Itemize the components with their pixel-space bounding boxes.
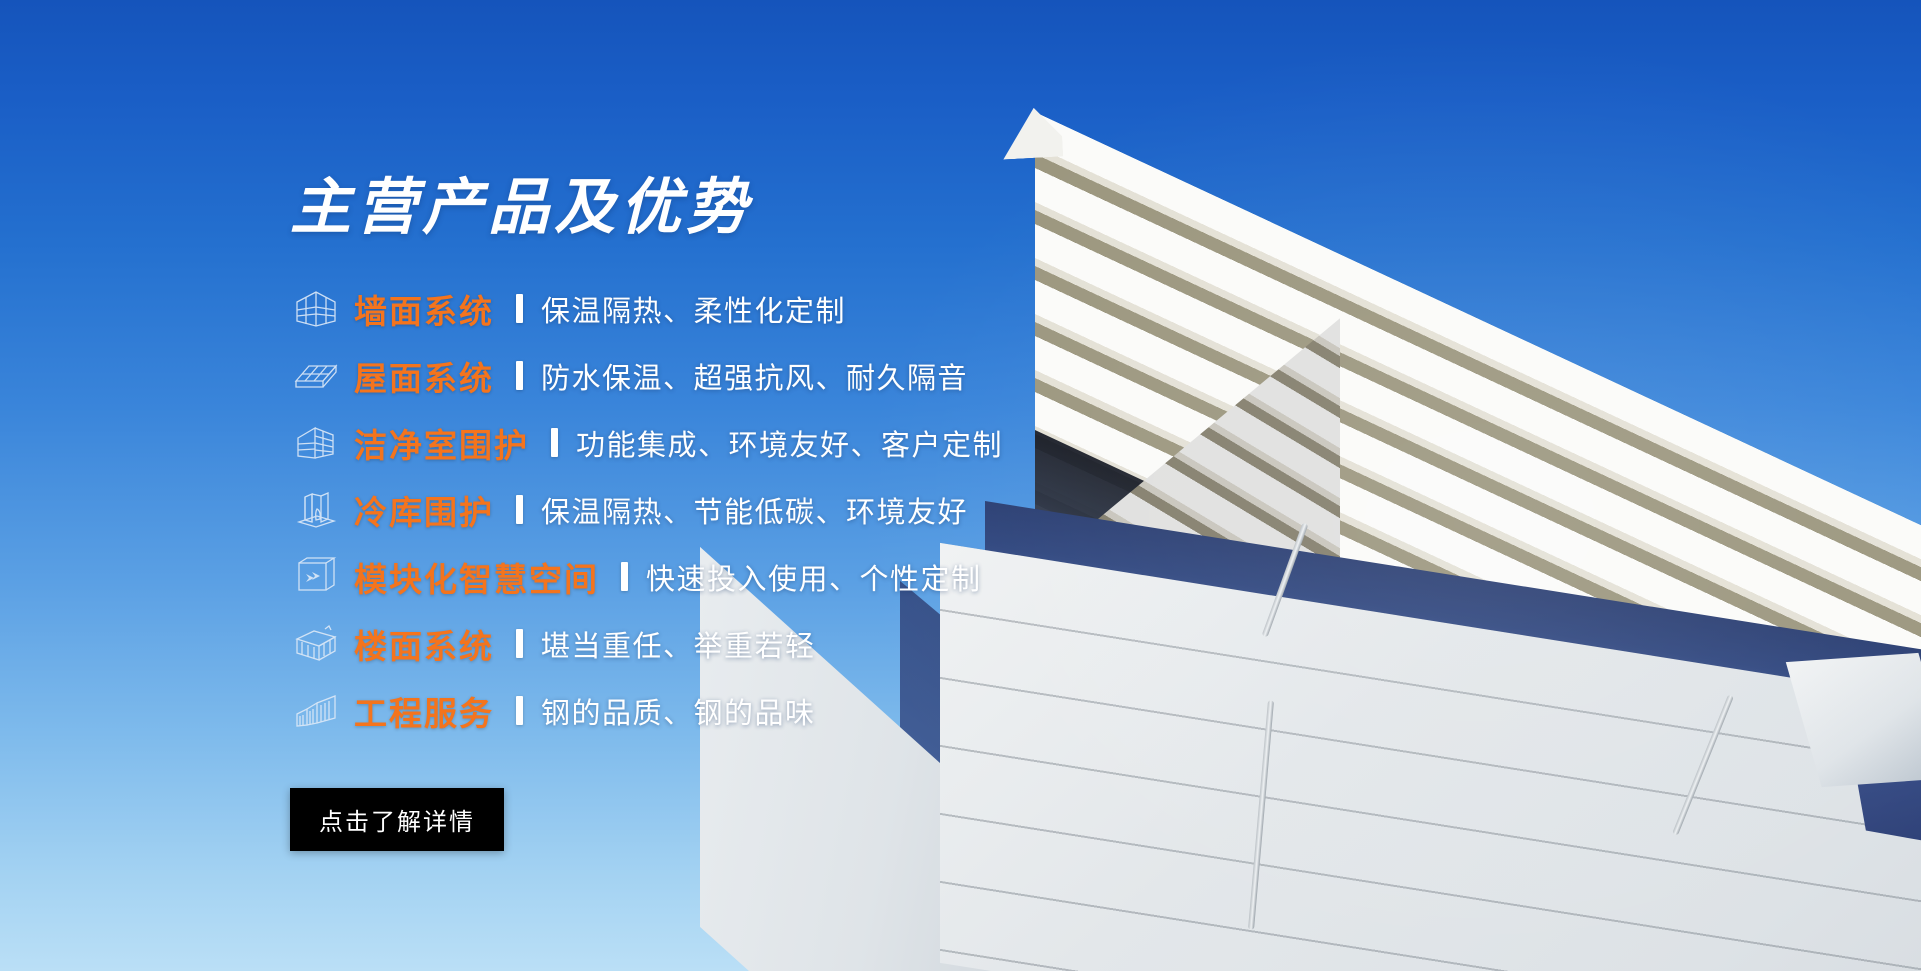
product-title: 冷库围护 [354,486,494,534]
title-desc-separator [516,696,523,725]
title-desc-separator [516,629,523,658]
floor-deck-icon [290,620,342,668]
product-row-modular-smart-space[interactable]: 模块化智慧空间 快速投入使用、个性定制 [290,543,1440,610]
product-desc: 保温隔热、柔性化定制 [541,288,846,330]
tower-apex-cap [1001,106,1064,159]
product-desc: 堪当重任、举重若轻 [541,623,816,665]
title-desc-separator [516,361,523,390]
product-title: 模块化智慧空间 [354,553,599,601]
product-title: 楼面系统 [354,620,494,668]
product-title: 屋面系统 [354,352,494,400]
modular-cube-icon [290,553,342,601]
product-desc: 钢的品质、钢的品味 [541,690,816,732]
product-desc: 防水保温、超强抗风、耐久隔音 [541,355,968,397]
learn-more-button[interactable]: 点击了解详情 [290,788,504,851]
product-desc: 功能集成、环境友好、客户定制 [576,422,1003,464]
product-row-engineering-service[interactable]: 工程服务 钢的品质、钢的品味 [290,677,1440,744]
roof-panel-icon [290,352,342,400]
cold-storage-icon [290,486,342,534]
product-row-roof-system[interactable]: 屋面系统 防水保温、超强抗风、耐久隔音 [290,342,1440,409]
factory-service-icon [290,687,342,735]
banner-content: 主营产品及优势 墙面系统 保温隔热、柔性化定制 [290,175,1440,851]
page-title: 主营产品及优势 [290,175,1440,239]
product-desc: 快速投入使用、个性定制 [646,556,982,598]
title-desc-separator [516,294,523,323]
product-row-cold-storage-envelope[interactable]: 冷库围护 保温隔热、节能低碳、环境友好 [290,476,1440,543]
hero-banner: 主营产品及优势 墙面系统 保温隔热、柔性化定制 [0,0,1921,971]
product-desc: 保温隔热、节能低碳、环境友好 [541,489,968,531]
product-title: 洁净室围护 [354,419,529,467]
title-desc-separator [551,428,558,457]
product-row-cleanroom-envelope[interactable]: 洁净室围护 功能集成、环境友好、客户定制 [290,409,1440,476]
title-desc-separator [516,495,523,524]
wall-panel-icon [290,285,342,333]
title-desc-separator [621,562,628,591]
product-list: 墙面系统 保温隔热、柔性化定制 屋面系统 防水保温、超强抗风、 [290,275,1440,744]
cleanroom-building-icon [290,419,342,467]
product-title: 工程服务 [354,687,494,735]
product-title: 墙面系统 [354,285,494,333]
product-row-floor-system[interactable]: 楼面系统 堪当重任、举重若轻 [290,610,1440,677]
product-row-wall-system[interactable]: 墙面系统 保温隔热、柔性化定制 [290,275,1440,342]
